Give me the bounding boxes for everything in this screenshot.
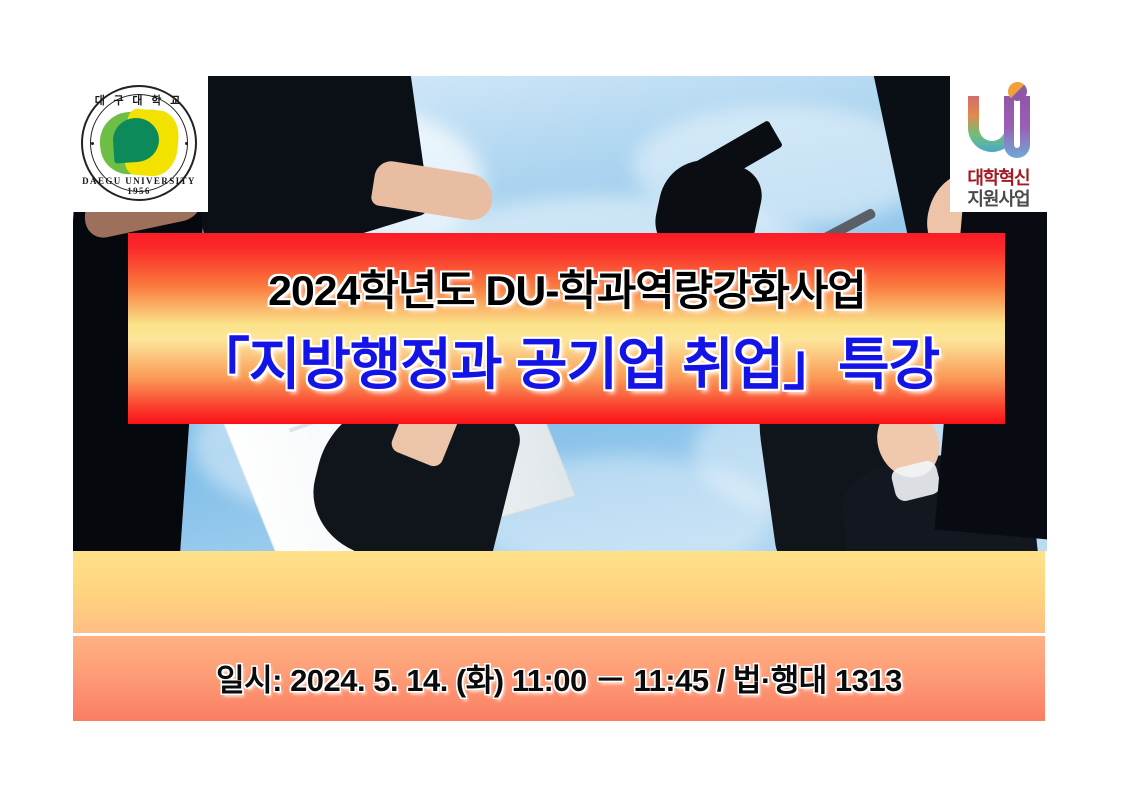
schedule-band: 일시: 2024. 5. 14. (화) 11:00 － 11:45 / 법·행…	[73, 636, 1045, 721]
poster-root: 대 구 대 학 교 DAEGU UNIVERSITY 1956 대학혁신 지원사…	[0, 0, 1122, 793]
daegu-university-seal: 대 구 대 학 교 DAEGU UNIVERSITY 1956	[70, 76, 208, 212]
poster-title-line-2: 「지방행정과 공기업 취업」특강	[194, 320, 939, 401]
program-logo-line2: 지원사업	[950, 185, 1047, 211]
poster-title-line-1: 2024학년도 DU-학과역량강화사업	[268, 257, 866, 318]
seal-emblem	[100, 106, 178, 182]
seal-english-text: DAEGU UNIVERSITY 1956	[70, 176, 208, 196]
yellow-accent-band	[73, 551, 1045, 633]
ui-dot-icon	[1008, 82, 1027, 101]
schedule-text: 일시: 2024. 5. 14. (화) 11:00 － 11:45 / 법·행…	[216, 655, 902, 700]
ui-letter-j-icon	[1004, 96, 1030, 158]
ui-gradient-mark-icon	[964, 84, 1034, 164]
university-innovation-support-logo: 대학혁신 지원사업	[950, 76, 1047, 212]
seal-dot	[91, 142, 94, 145]
title-banner: 2024학년도 DU-학과역량강화사업 「지방행정과 공기업 취업」특강	[128, 233, 1005, 424]
seal-dot	[185, 142, 188, 145]
